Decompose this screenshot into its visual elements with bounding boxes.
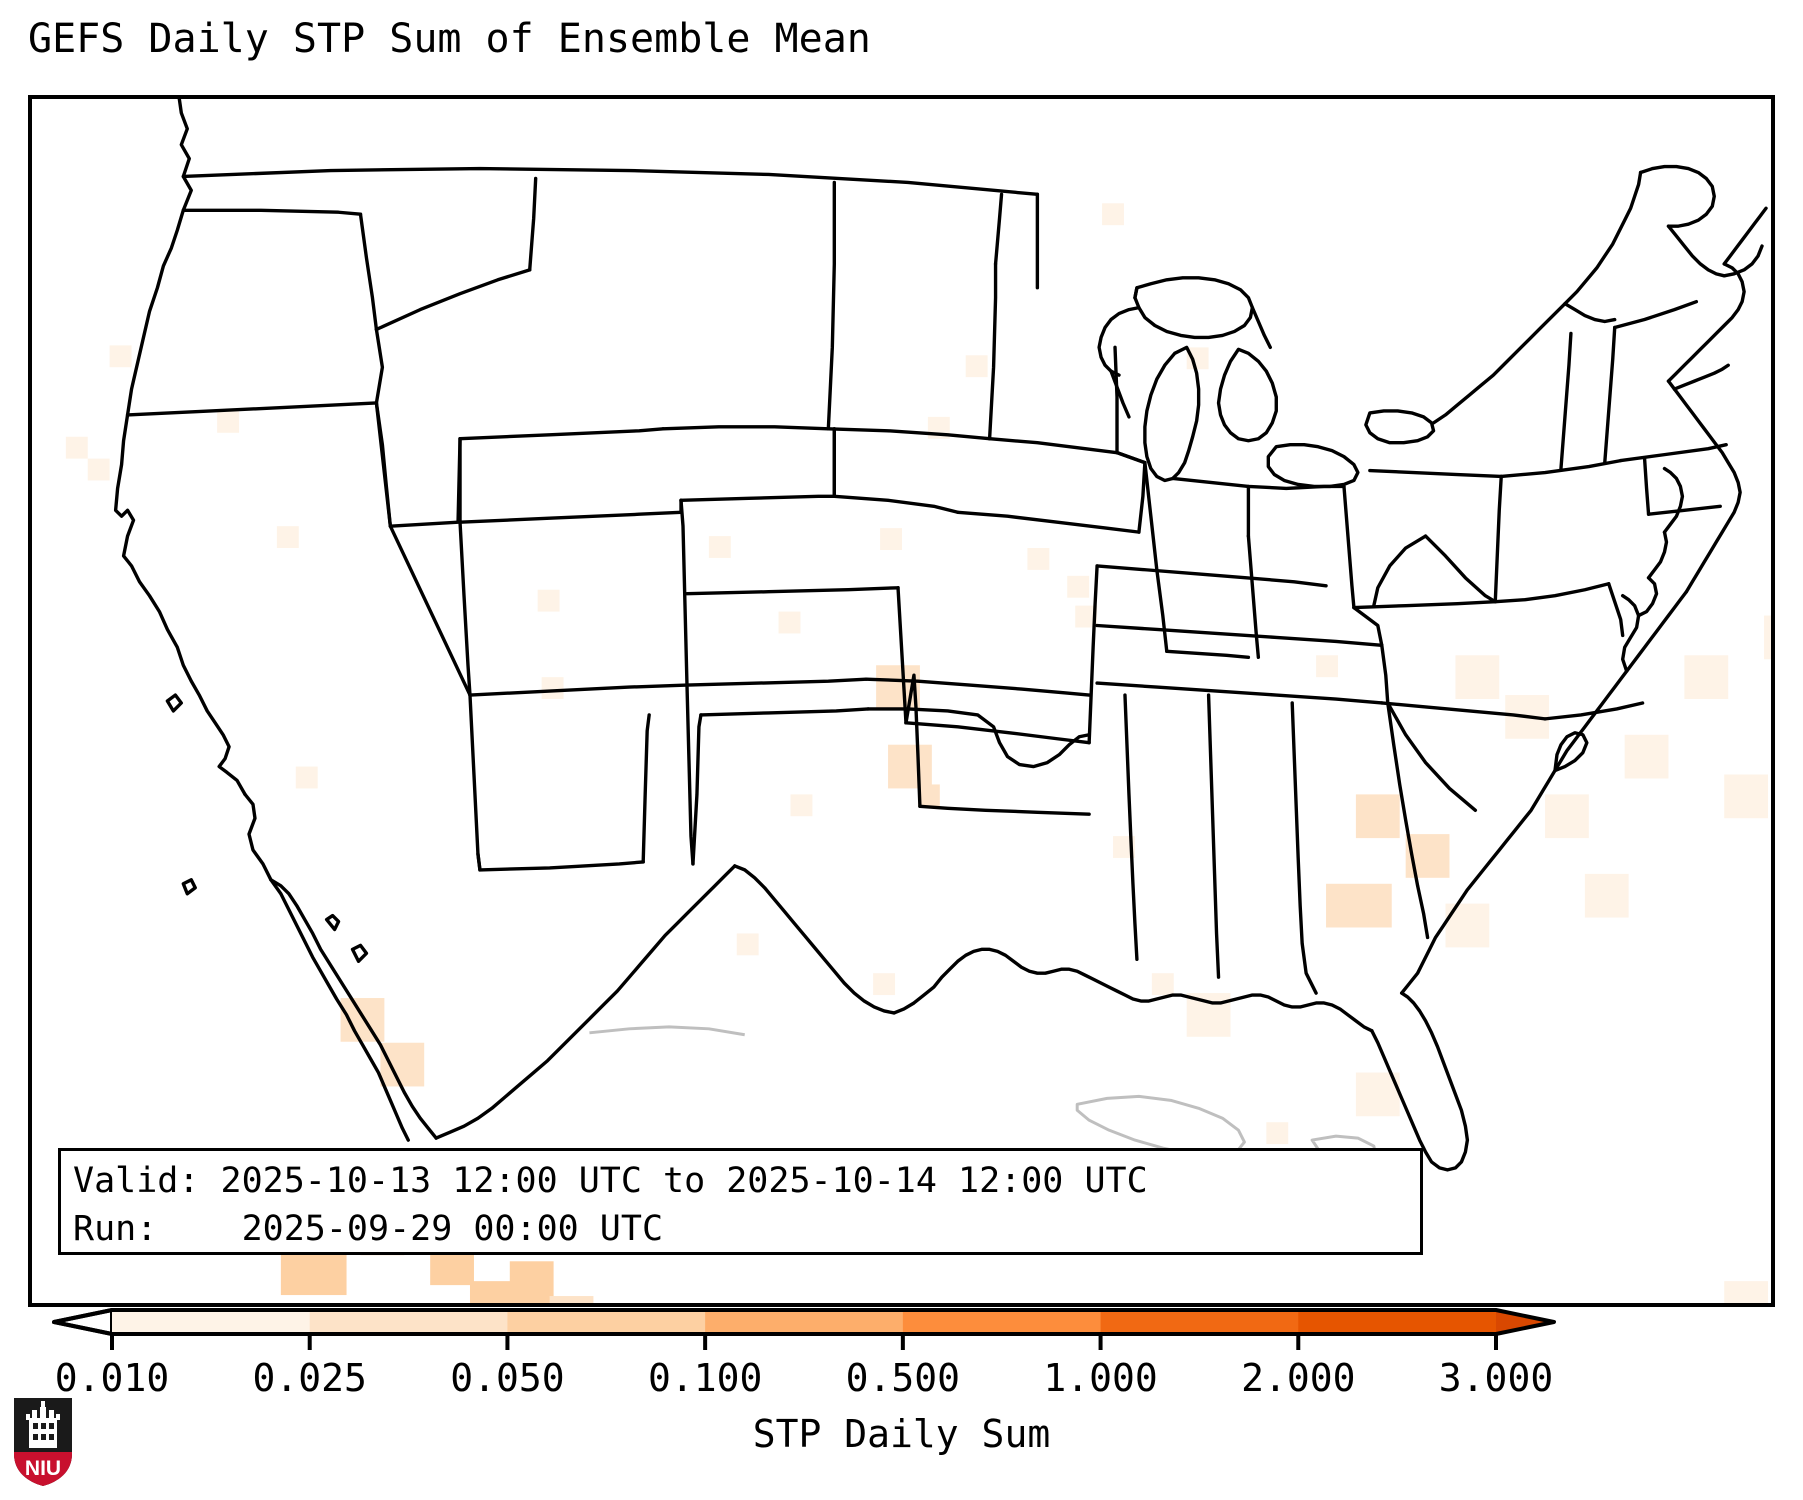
data-cell [1684, 655, 1728, 699]
map-panel[interactable] [28, 95, 1775, 1307]
data-cell [1316, 655, 1338, 677]
data-cell [966, 355, 988, 377]
logo-text: NIU [25, 1457, 61, 1480]
page-title: GEFS Daily STP Sum of Ensemble Mean [28, 16, 871, 62]
data-cell [737, 933, 759, 955]
colorbar[interactable] [0, 1300, 1803, 1360]
niu-logo-svg: NIU [12, 1396, 74, 1488]
data-cell [880, 528, 902, 550]
data-cell [66, 437, 88, 459]
colorbar-tick-label: 0.500 [846, 1356, 960, 1400]
data-cell [1152, 973, 1174, 995]
data-cell [380, 1043, 424, 1087]
data-cell [538, 590, 560, 612]
colorbar-band [1101, 1310, 1299, 1334]
data-cell [110, 345, 132, 367]
data-cell [542, 677, 564, 699]
map-svg [32, 99, 1771, 1303]
data-cell [510, 1261, 554, 1303]
data-cell [1356, 794, 1400, 838]
data-cell [1266, 1122, 1288, 1144]
data-cell [1455, 655, 1499, 699]
colorbar-bands [54, 1310, 1554, 1334]
niu-logo: NIU [12, 1396, 74, 1488]
colorbar-band [507, 1310, 705, 1334]
colorbar-tick-label: 0.010 [55, 1356, 169, 1400]
colorbar-axis-label: STP Daily Sum [0, 1412, 1803, 1456]
data-cell [873, 973, 895, 995]
colorbar-band [1298, 1310, 1496, 1334]
data-cell [779, 612, 801, 634]
data-cell [1067, 576, 1089, 598]
colorbar-tick-label: 2.000 [1241, 1356, 1355, 1400]
data-cell [1764, 616, 1771, 660]
data-cell [1027, 548, 1049, 570]
weather-map-page: GEFS Daily STP Sum of Ensemble Mean [0, 0, 1803, 1500]
info-box: Valid: 2025-10-13 12:00 UTC to 2025-10-1… [58, 1148, 1423, 1255]
data-cell [1625, 735, 1669, 779]
data-cell [296, 767, 318, 789]
colorbar-band [705, 1310, 903, 1334]
run-time-line: Run: 2025-09-29 00:00 UTC [73, 1205, 1420, 1253]
data-cell [281, 1251, 347, 1295]
data-cell [709, 536, 731, 558]
data-cell [1102, 203, 1124, 225]
data-cell [88, 459, 110, 481]
data-cell [1326, 884, 1392, 928]
data-cell [1545, 794, 1589, 838]
colorbar-ticks [112, 1334, 1496, 1350]
data-cell [277, 526, 299, 548]
colorbar-tick-label: 0.100 [648, 1356, 762, 1400]
colorbar-band [903, 1310, 1101, 1334]
colorbar-tick-labels: 0.0100.0250.0500.1000.5001.0002.0003.000 [0, 1356, 1803, 1404]
colorbar-band [112, 1310, 310, 1334]
colorbar-tick-label: 0.050 [450, 1356, 564, 1400]
colorbar-tick-label: 1.000 [1043, 1356, 1157, 1400]
data-cell [888, 745, 932, 789]
colorbar-tick-label: 0.025 [253, 1356, 367, 1400]
colorbar-tick-label: 3.000 [1439, 1356, 1553, 1400]
colorbar-band [310, 1310, 508, 1334]
data-cell [1724, 775, 1768, 819]
data-cell [1585, 874, 1629, 918]
valid-time-line: Valid: 2025-10-13 12:00 UTC to 2025-10-1… [73, 1157, 1420, 1205]
data-cell [791, 794, 813, 816]
colorbar-svg [0, 1300, 1803, 1360]
data-cell [217, 411, 239, 433]
